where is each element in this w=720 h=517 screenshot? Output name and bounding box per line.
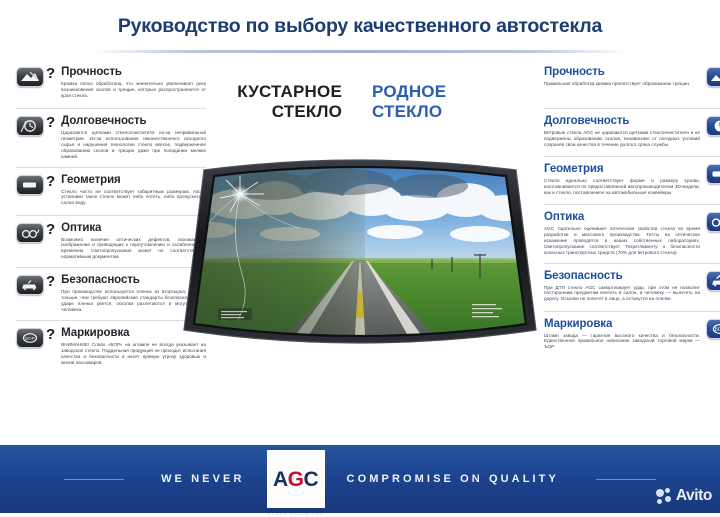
feature-block-marking-aftermarket: БОР ? Маркировка ВНИМАНИЕ! Слово «БОР» н… <box>16 320 206 373</box>
question-mark-icon: ? <box>46 67 55 81</box>
feature-block-marking-oem: БОР Маркировка Штамп завода — гарантия в… <box>544 311 720 359</box>
feature-text: Правильная обработка кромки препятствует… <box>544 81 700 87</box>
windshield-illustration <box>180 142 540 367</box>
stamp-marking-icon: БОР ? <box>16 327 55 348</box>
feature-block-safety-aftermarket: ? Безопасность При производстве использу… <box>16 267 206 320</box>
aftermarket-label-line2: СТЕКЛО <box>272 102 342 121</box>
feature-block-geometry-oem: Геометрия Стекло идеально соответствует … <box>544 156 720 204</box>
glasses-icon <box>706 211 720 232</box>
feature-block-safety-oem: Безопасность При ДТП стекло AGC самортиз… <box>544 263 720 311</box>
bor-stamp-icon: БОР <box>706 318 720 339</box>
agc-logo-letters: AGC <box>273 468 318 491</box>
feature-block-durability-oem: Долговечность Ветровые стекла AGC не цар… <box>544 108 720 156</box>
chipped-edge-icon: ? <box>16 66 55 87</box>
title-divider <box>92 50 628 53</box>
feature-block-optics-aftermarket: ? Оптика Возможно наличие оптических деф… <box>16 215 206 268</box>
oem-label-line1: РОДНОЕ <box>372 82 446 101</box>
feature-text: При ДТП стекло AGC самортизирует удар, п… <box>544 285 700 303</box>
feature-text: Стекло идеально соответствует форме и ра… <box>544 178 700 196</box>
question-mark-icon: ? <box>46 275 55 289</box>
feature-title: Долговечность <box>544 115 700 128</box>
comparison-stage: КУСТАРНОЕ СТЕКЛО РОДНОЕ СТЕКЛО <box>182 60 538 432</box>
clock-wiper-icon: ? <box>16 115 55 136</box>
agc-logo: AGC GLASS UNLIMITED <box>267 450 325 508</box>
infographic-page: Руководство по выбору качественного авто… <box>0 0 720 513</box>
svg-text:БОР: БОР <box>715 327 720 333</box>
glass-shape-icon: ? <box>16 174 55 195</box>
agc-logo-text: AGC <box>273 469 318 490</box>
glass-shape-icon <box>706 163 720 184</box>
footer-slogan-left: WE NEVER <box>161 473 244 485</box>
svg-text:БОР: БОР <box>25 336 35 341</box>
car-crash-icon: ? <box>16 274 55 295</box>
feature-text: Ветровые стекла AGC не царапаются щеткам… <box>544 130 700 148</box>
feature-title: Прочность <box>544 66 700 79</box>
footer-rule-right <box>596 479 656 480</box>
avito-watermark: Avito <box>656 487 712 505</box>
footer-slogan-right: COMPROMISE ON QUALITY <box>347 473 559 485</box>
question-mark-icon: ? <box>46 223 55 237</box>
edge-tool-icon <box>706 66 720 87</box>
feature-block-strength-aftermarket: ? Прочность Кромка плохо обработана, что… <box>16 60 206 108</box>
feature-block-optics-oem: Оптика AGC тщательно оценивает оптически… <box>544 204 720 263</box>
page-header: Руководство по выбору качественного авто… <box>0 0 720 52</box>
feature-block-durability-aftermarket: ? Долговечность Царапается щетками стекл… <box>16 108 206 167</box>
feature-block-geometry-aftermarket: ? Геометрия Стекло часто не соответствуе… <box>16 167 206 215</box>
glasses-icon: ? <box>16 222 55 243</box>
aftermarket-label: КУСТАРНОЕ СТЕКЛО <box>182 82 342 122</box>
oem-feature-column: Прочность Правильная обработка кромки пр… <box>544 60 720 359</box>
aftermarket-label-line1: КУСТАРНОЕ <box>237 82 342 101</box>
feature-title: Геометрия <box>544 163 700 176</box>
feature-text: AGC тщательно оценивает оптические свойс… <box>544 226 700 256</box>
feature-text: Штамп завода — гарантия высокого качеств… <box>544 333 700 351</box>
aftermarket-feature-column: ? Прочность Кромка плохо обработана, что… <box>16 60 206 372</box>
question-mark-icon: ? <box>46 328 55 342</box>
page-title: Руководство по выбору качественного авто… <box>118 15 602 38</box>
feature-block-strength-oem: Прочность Правильная обработка кромки пр… <box>544 60 720 108</box>
avito-dots-icon <box>656 488 673 505</box>
question-mark-icon: ? <box>46 175 55 189</box>
feature-title: Маркировка <box>544 318 700 331</box>
question-mark-icon: ? <box>46 116 55 130</box>
avito-label: Avito <box>676 487 712 505</box>
car-safety-icon <box>706 270 720 291</box>
feature-title: Безопасность <box>544 270 700 283</box>
oem-label: РОДНОЕ СТЕКЛО <box>372 82 537 122</box>
clock-icon <box>706 115 720 136</box>
oem-label-line2: СТЕКЛО <box>372 102 442 121</box>
feature-title: Оптика <box>544 211 700 224</box>
footer-banner: WE NEVER AGC GLASS UNLIMITED COMPROMISE … <box>0 445 720 513</box>
footer-rule-left <box>64 479 124 480</box>
